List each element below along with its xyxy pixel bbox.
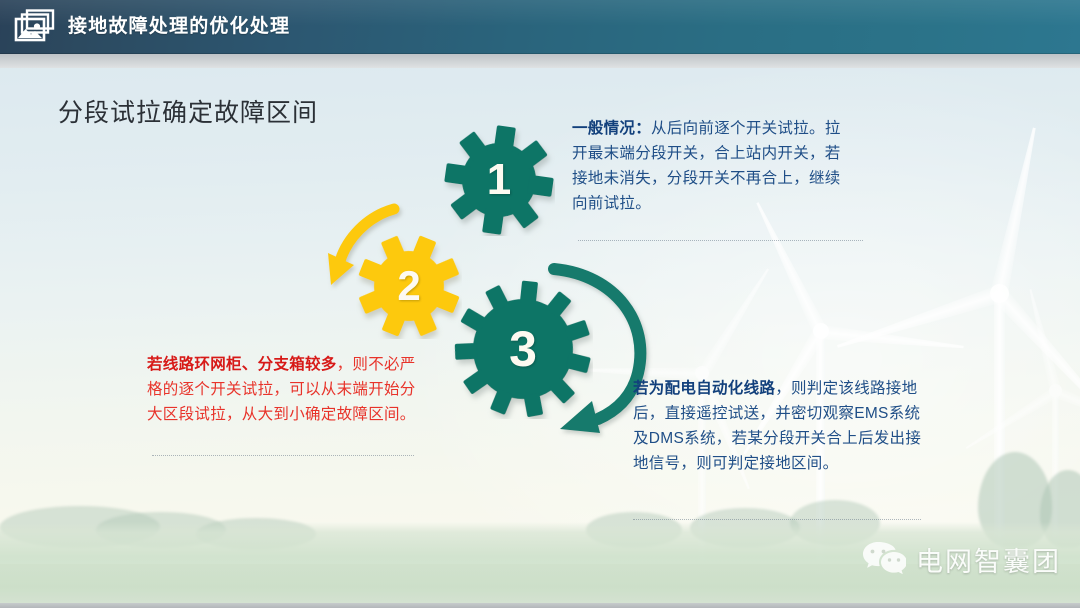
divider	[578, 240, 863, 241]
page-title: 分段试拉确定故障区间	[58, 93, 318, 129]
bottom-strip	[0, 603, 1080, 608]
callout-automation-line: 若为配电自动化线路，则判定该线路接地后，直接遥控试送，并密切观察EMS系统及DM…	[633, 376, 923, 476]
callout-automation-line-lead: 若为配电自动化线路	[633, 380, 775, 397]
divider	[152, 455, 414, 456]
callout-many-switchgear-lead: 若线路环网柜、分支箱较多	[147, 356, 337, 373]
header-underbar	[0, 54, 1080, 68]
callout-general-case-lead: 一般情况：	[572, 120, 651, 137]
gear-step-2: 2	[356, 233, 462, 339]
slide-canvas: 接地故障处理的优化处理 分段试拉确定故障区间	[0, 0, 1080, 608]
gear-step-3: 3	[453, 279, 593, 419]
divider	[633, 519, 921, 520]
header-title: 接地故障处理的优化处理	[68, 11, 290, 38]
header-bar: 接地故障处理的优化处理	[0, 0, 1080, 54]
wechat-icon	[862, 540, 906, 579]
watermark-text: 电网智囊团	[916, 540, 1061, 579]
pictures-stack-icon	[14, 9, 56, 43]
watermark: 电网智囊团	[862, 540, 1061, 579]
callout-many-switchgear: 若线路环网柜、分支箱较多，则不必严格的逐个开关试拉，可以从末端开始分大区段试拉，…	[147, 352, 419, 427]
gear-step-1: 1	[443, 124, 555, 236]
callout-general-case: 一般情况：从后向前逐个开关试拉。拉开最末端分段开关，合上站内开关，若接地未消失，…	[572, 116, 850, 216]
